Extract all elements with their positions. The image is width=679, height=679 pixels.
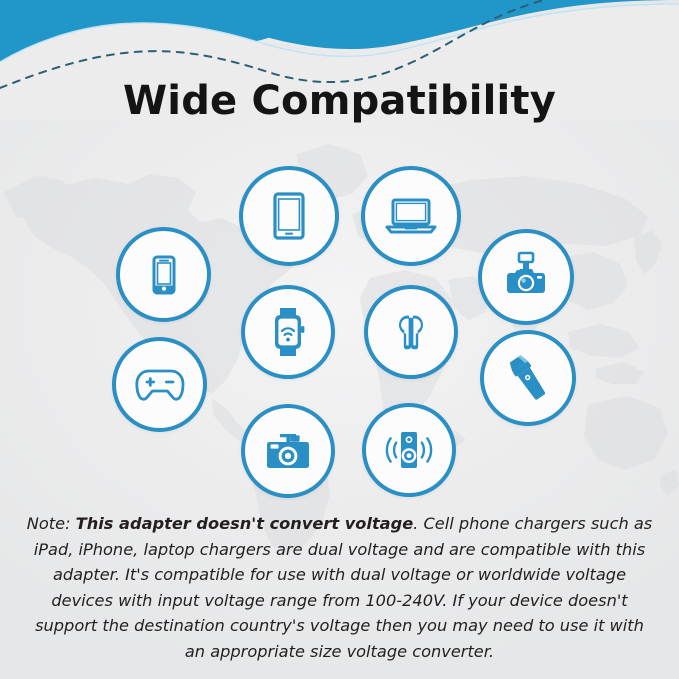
world-map-watermark bbox=[0, 118, 679, 558]
note-text: Note: This adapter doesn't convert volta… bbox=[24, 511, 655, 665]
icon-circle-speaker[interactable] bbox=[362, 403, 456, 497]
note-body: . Cell phone chargers such as iPad, iPho… bbox=[34, 514, 652, 661]
icon-circle-flashlight[interactable] bbox=[480, 330, 576, 426]
tablet-icon bbox=[261, 188, 317, 244]
camera-flash-icon bbox=[499, 250, 553, 304]
speaker-icon bbox=[380, 425, 438, 475]
icon-circle-earbuds[interactable] bbox=[364, 285, 458, 379]
smartphone-icon bbox=[139, 250, 189, 300]
icon-circle-camera[interactable] bbox=[241, 404, 335, 498]
icon-circle-laptop[interactable] bbox=[361, 166, 461, 266]
note-prefix: Note: bbox=[27, 514, 76, 533]
icon-circle-gamepad[interactable] bbox=[112, 337, 207, 432]
earbuds-icon bbox=[386, 307, 436, 357]
smartwatch-icon bbox=[263, 305, 313, 359]
compatibility-infographic: Wide Compatibility bbox=[0, 0, 679, 679]
icon-circle-smartwatch[interactable] bbox=[241, 285, 335, 379]
laptop-icon bbox=[381, 188, 441, 244]
camera-icon bbox=[261, 427, 315, 475]
flashlight-icon bbox=[501, 351, 555, 405]
note-bold-warning: This adapter doesn't convert voltage bbox=[76, 514, 414, 533]
icon-circle-tablet[interactable] bbox=[239, 166, 339, 266]
gamepad-icon bbox=[132, 363, 188, 407]
icon-circle-smartphone[interactable] bbox=[116, 227, 211, 322]
icon-circle-camera-flash[interactable] bbox=[478, 229, 574, 325]
page-title: Wide Compatibility bbox=[0, 78, 679, 124]
